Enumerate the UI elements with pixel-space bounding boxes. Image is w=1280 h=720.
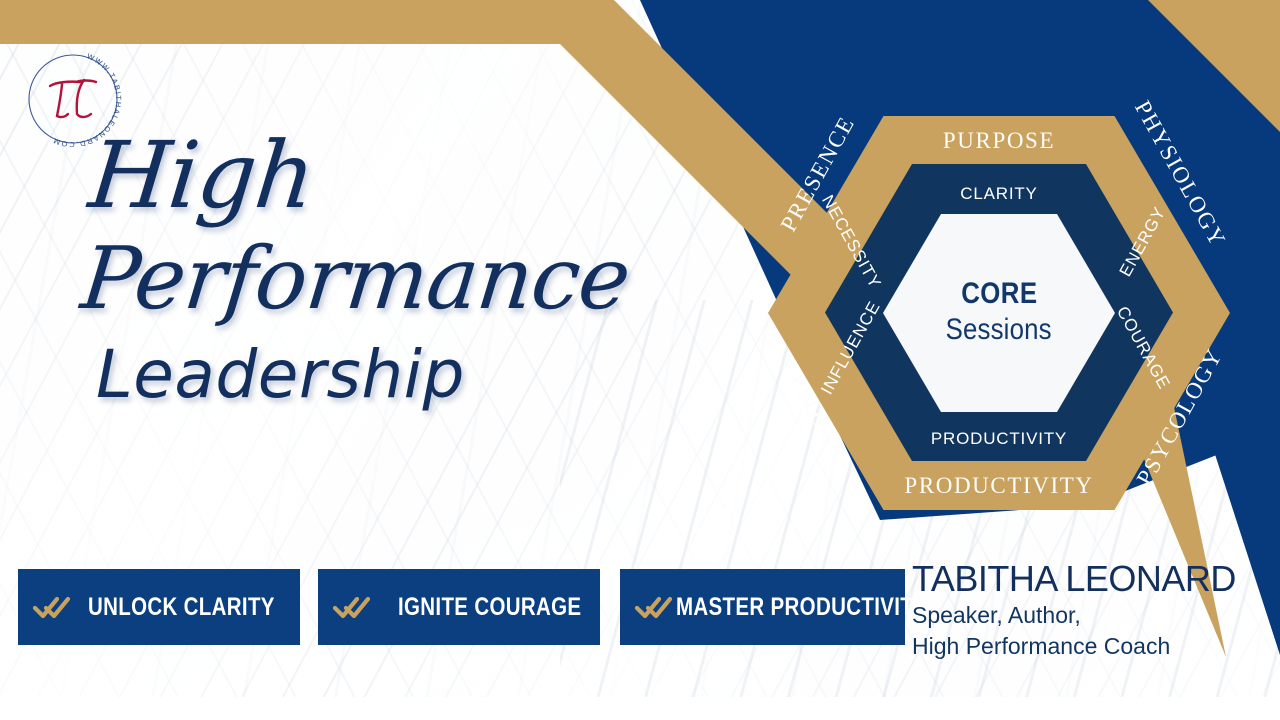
hexagon-center-text: CORE Sessions: [883, 214, 1115, 412]
poster-canvas: WWW.TABITHALEONARD.COM High Performance …: [0, 0, 1280, 720]
headline-line-2: Performance: [77, 236, 633, 322]
badge-unlock-clarity[interactable]: UNLOCK CLARITY: [18, 569, 300, 645]
speaker-name: TABITHA LEONARD: [912, 560, 1252, 598]
headline-line-1: High: [85, 130, 318, 222]
core-subtitle: Sessions: [946, 311, 1052, 349]
logo-monogram-tl: [50, 80, 96, 117]
badge-label: UNLOCK CLARITY: [88, 593, 275, 622]
core-sessions-hexagon-diagram: PURPOSE PRODUCTIVITY PHYSIOLOGY PSYCOLOG…: [768, 116, 1230, 510]
badge-master-productivity[interactable]: MASTER PRODUCTIVITY: [620, 569, 905, 645]
bottom-white-strip: [0, 697, 1280, 720]
badge-label: MASTER PRODUCTIVITY: [676, 593, 927, 622]
speaker-role-line-2: High Performance Coach: [912, 632, 1252, 660]
headline-line-3: Leadership: [96, 342, 465, 408]
speaker-signature-block: TABITHA LEONARD Speaker, Author, High Pe…: [912, 560, 1252, 660]
page-title: High Performance Leadership: [82, 130, 702, 408]
badge-label: IGNITE COURAGE: [398, 593, 581, 622]
double-check-icon: [332, 592, 372, 622]
double-check-icon: [634, 592, 674, 622]
hex-inner-label-productivity: PRODUCTIVITY: [825, 429, 1173, 449]
core-title: CORE: [961, 278, 1037, 310]
speaker-role-line-1: Speaker, Author,: [912, 601, 1252, 629]
double-check-icon: [32, 592, 72, 622]
badge-ignite-courage[interactable]: IGNITE COURAGE: [318, 569, 600, 645]
hex-inner-label-clarity: CLARITY: [825, 184, 1173, 204]
